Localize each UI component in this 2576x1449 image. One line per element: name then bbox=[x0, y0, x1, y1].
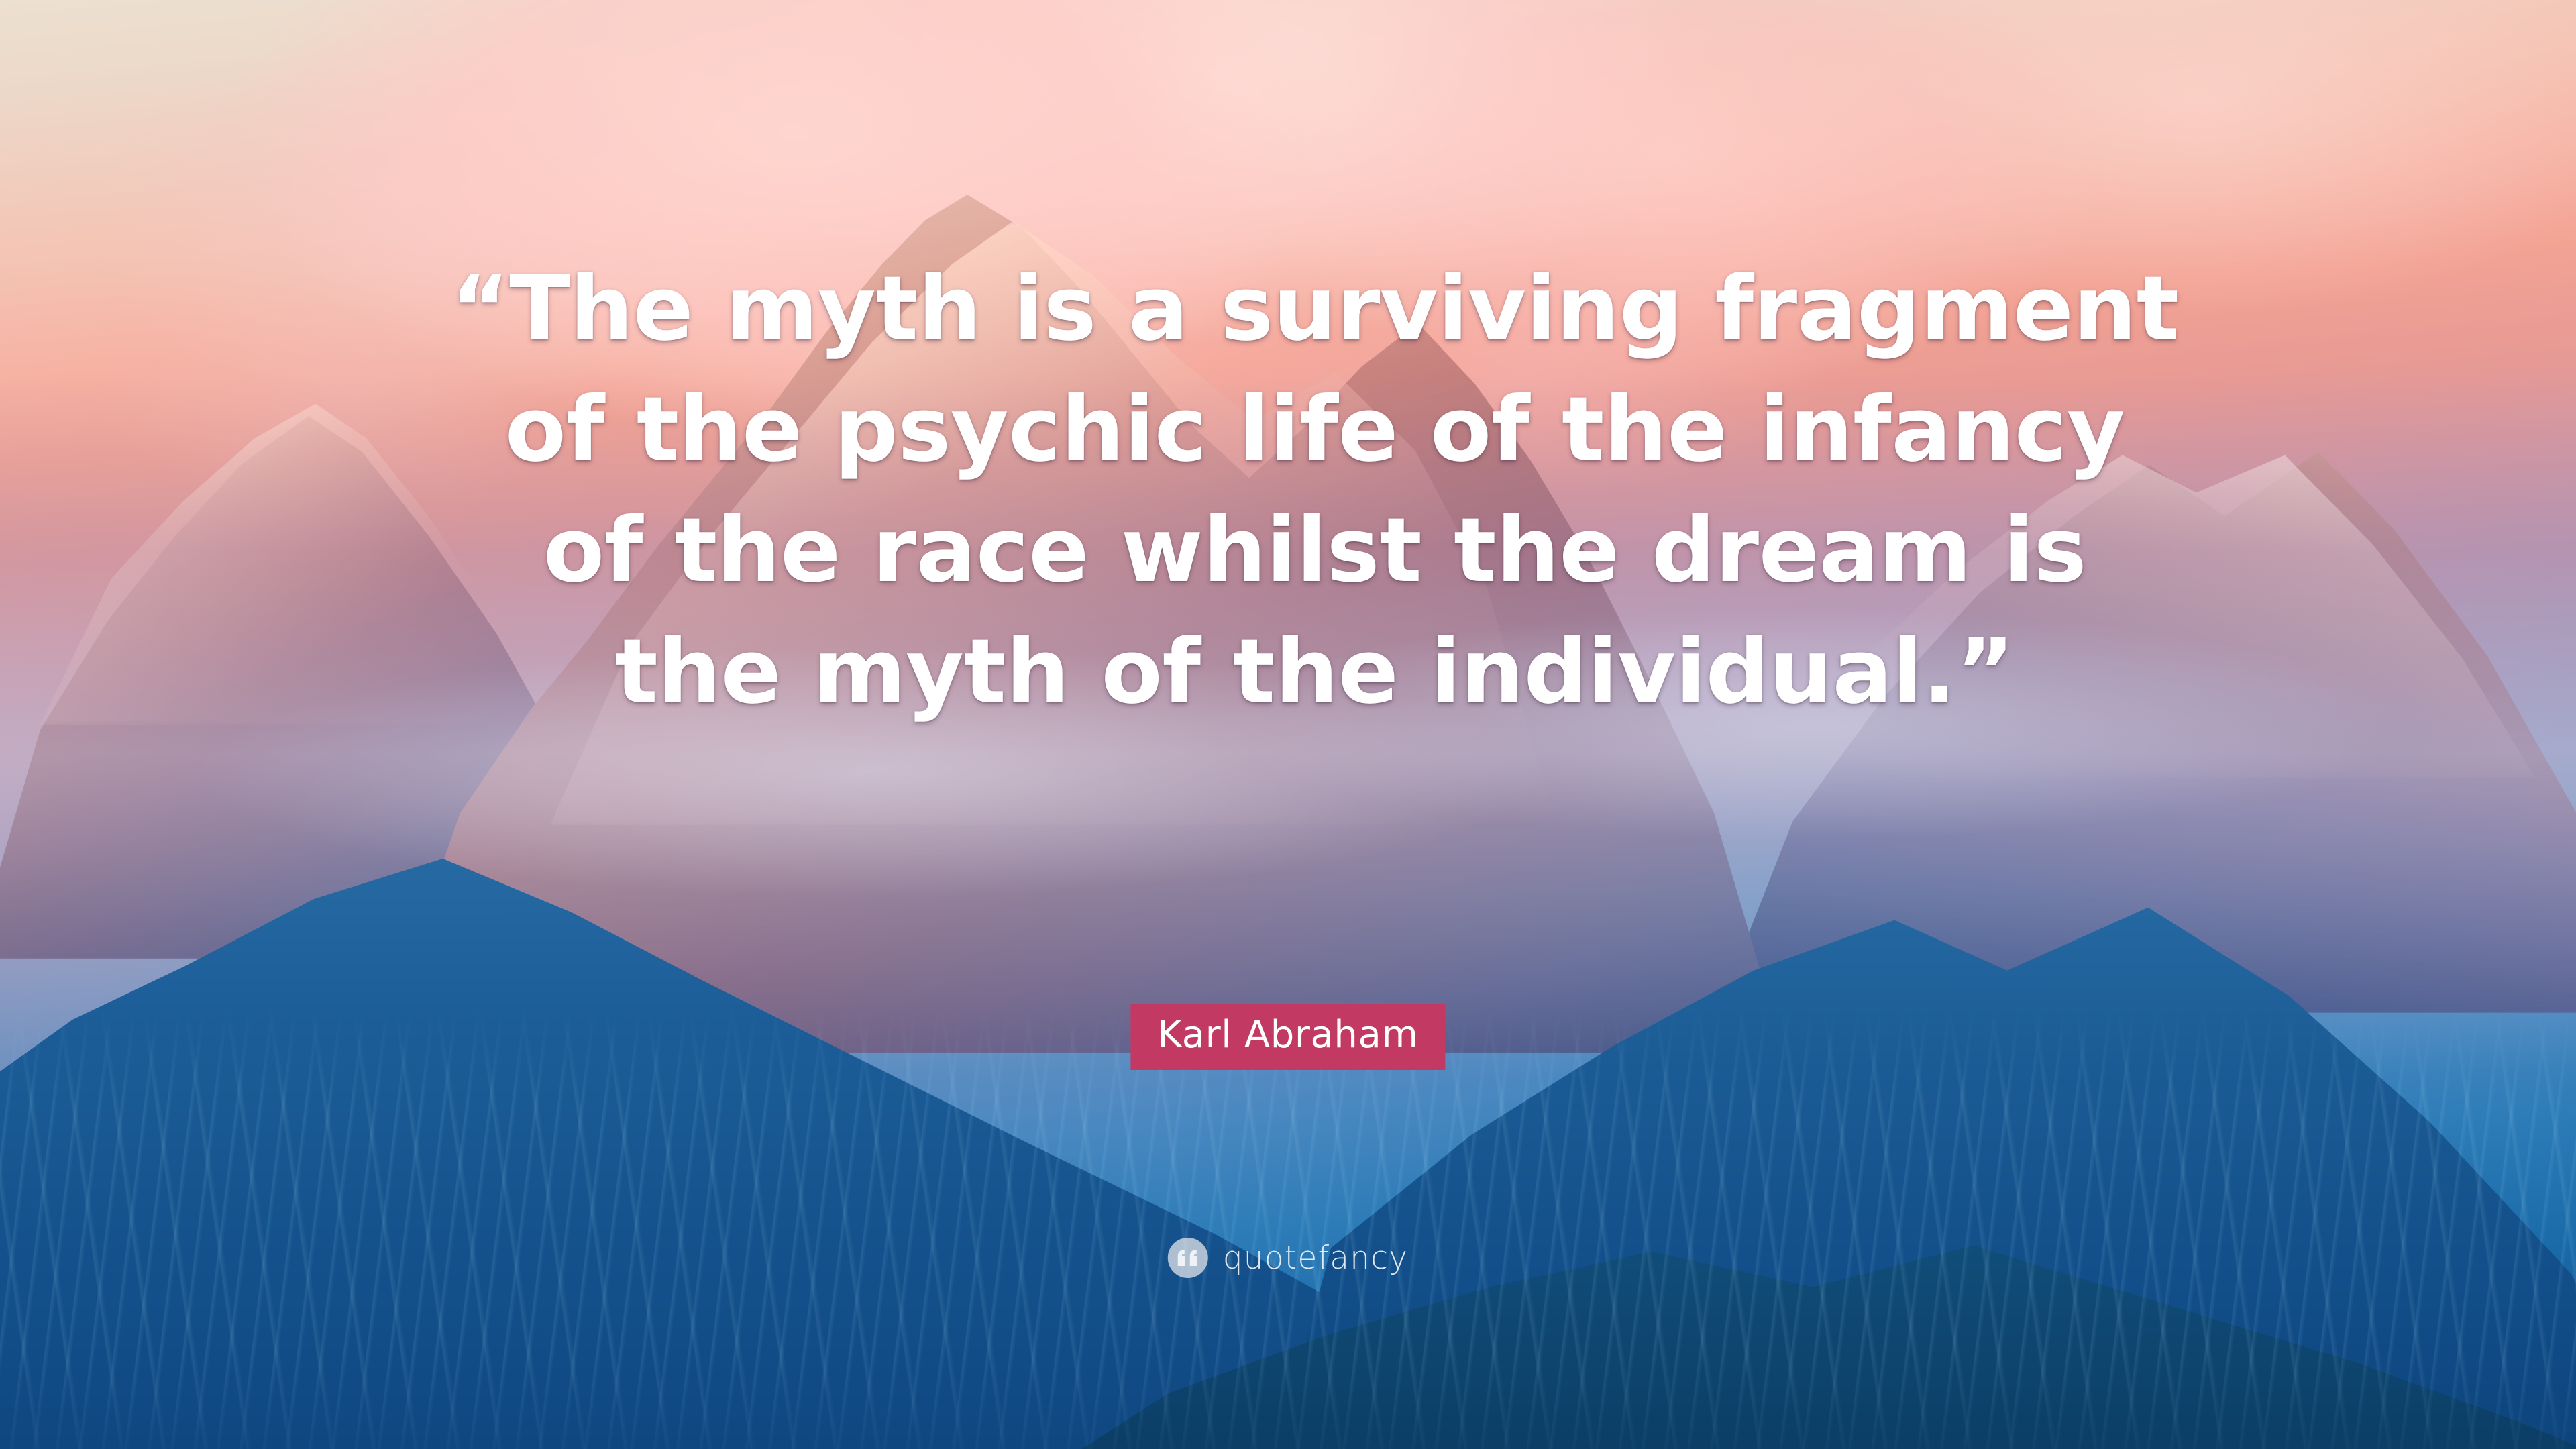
quotefancy-label: quotefancy bbox=[1223, 1240, 1409, 1277]
quote-poster: “The myth is a surviving fragment of the… bbox=[0, 0, 2576, 1449]
quote-line-3: of the race whilst the dream is bbox=[349, 490, 2281, 611]
quote-line-4: the myth of the individual.” bbox=[349, 612, 2281, 733]
author-badge: Karl Abraham bbox=[1130, 1004, 1445, 1070]
quote-mark-icon bbox=[1168, 1238, 1208, 1278]
quotefancy-watermark[interactable]: quotefancy bbox=[1168, 1238, 1409, 1278]
quote-block: “The myth is a surviving fragment of the… bbox=[349, 249, 2281, 733]
quote-line-1: “The myth is a surviving fragment bbox=[349, 249, 2281, 370]
quote-line-2: of the psychic life of the infancy bbox=[349, 370, 2281, 490]
poster-content: “The myth is a surviving fragment of the… bbox=[0, 0, 2576, 1449]
